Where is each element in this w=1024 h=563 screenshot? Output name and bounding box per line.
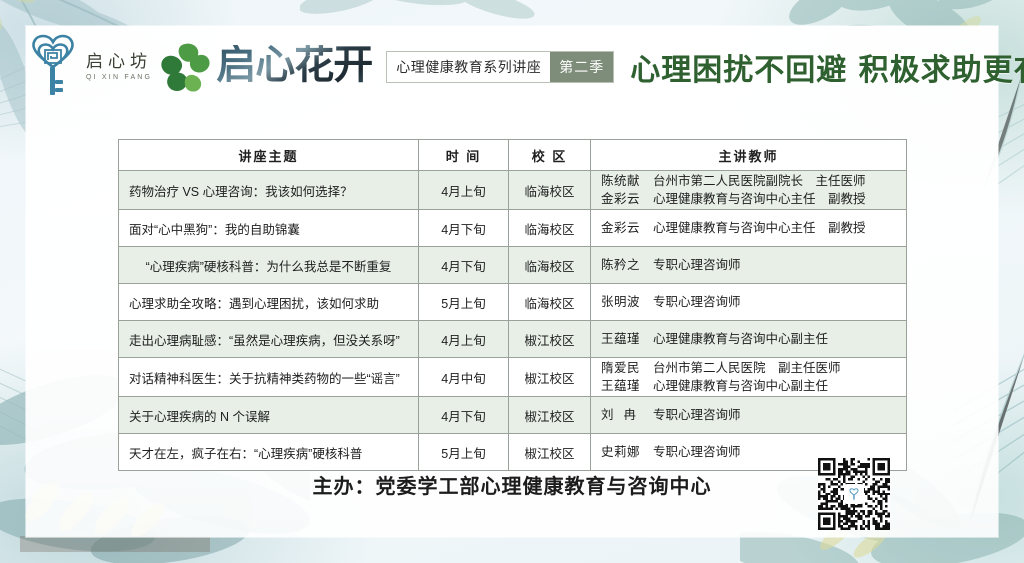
table-row: 关于心理疾病的 N 个误解4月下旬椒江校区刘冉专职心理咨询师 (119, 397, 907, 434)
teacher-title: 专职心理咨询师 (653, 256, 896, 274)
column-header-campus: 校 区 (509, 140, 591, 171)
cell-topic: 天才在左，疯子在右：“心理疾病”硬核科普 (119, 434, 419, 471)
green-leaf-flower-logo-icon (156, 41, 212, 93)
cell-time: 4月上旬 (419, 171, 509, 210)
teacher-name: 史莉娜 (601, 443, 653, 461)
teacher-name: 陈统献 (601, 172, 653, 190)
cell-topic: 心理求助全攻略：遇到心理困扰，该如何求助 (119, 284, 419, 321)
teacher-title: 心理健康教育与咨询中心主任 副教授 (653, 190, 896, 208)
poster-main-title: 心理困扰不回避 积极求助更有益 (630, 45, 1024, 89)
cell-topic: 走出心理病耻感：“虽然是心理疾病，但没关系呀” (119, 321, 419, 358)
teacher-entry: 王蕴瑾心理健康教育与咨询中心副主任 (601, 330, 896, 348)
series-label: 心理健康教育系列讲座 (387, 52, 550, 82)
cell-campus: 椒江校区 (509, 358, 591, 397)
teacher-name: 陈矜之 (601, 256, 653, 274)
schedule-table-body: 药物治疗 VS 心理咨询：我该如何选择？4月上旬临海校区陈统献台州市第二人民医院… (119, 171, 907, 471)
table-row: 药物治疗 VS 心理咨询：我该如何选择？4月上旬临海校区陈统献台州市第二人民医院… (119, 171, 907, 210)
cell-topic: “心理疾病”硬核科普：为什么我总是不断重复 (119, 247, 419, 284)
table-row: 走出心理病耻感：“虽然是心理疾病，但没关系呀”4月上旬椒江校区王蕴瑾心理健康教育… (119, 321, 907, 358)
cell-time: 4月下旬 (419, 210, 509, 247)
teacher-title: 台州市第二人民医院 副主任医师 (653, 359, 896, 377)
teacher-name: 金彩云 (601, 190, 653, 208)
column-header-topic: 讲座主题 (119, 140, 419, 171)
cell-campus: 椒江校区 (509, 434, 591, 471)
key-heart-logo-icon (26, 31, 80, 103)
table-row: 对话精神科医生：关于抗精神类药物的一些“谣言”4月中旬椒江校区隋爱民台州市第二人… (119, 358, 907, 397)
cell-campus: 椒江校区 (509, 321, 591, 358)
teacher-name: 王蕴瑾 (601, 330, 653, 348)
cell-time: 4月下旬 (419, 247, 509, 284)
cell-topic: 面对“心中黑狗”：我的自助锦囊 (119, 210, 419, 247)
cell-campus: 临海校区 (509, 284, 591, 321)
cell-teacher: 隋爱民台州市第二人民医院 副主任医师王蕴瑾心理健康教育与咨询中心副主任 (591, 358, 907, 397)
teacher-entry: 陈矜之专职心理咨询师 (601, 256, 896, 274)
teacher-entry: 王蕴瑾心理健康教育与咨询中心副主任 (601, 377, 896, 395)
poster-canvas: 启心坊 QI XIN FANG 启心花开 心理健康教育系列讲座 第二 (0, 0, 1024, 563)
cell-teacher: 陈矜之专职心理咨询师 (591, 247, 907, 284)
cell-teacher: 张明波专职心理咨询师 (591, 284, 907, 321)
cell-topic: 关于心理疾病的 N 个误解 (119, 397, 419, 434)
teacher-entry: 隋爱民台州市第二人民医院 副主任医师 (601, 359, 896, 377)
cell-time: 4月下旬 (419, 397, 509, 434)
teacher-entry: 金彩云心理健康教育与咨询中心主任 副教授 (601, 219, 896, 237)
brand-mark: 启心坊 QI XIN FANG (86, 41, 212, 93)
teacher-entry: 刘冉专职心理咨询师 (601, 406, 896, 424)
qr-center-logo (844, 484, 864, 504)
cell-time: 5月上旬 (419, 284, 509, 321)
column-header-time: 时 间 (419, 140, 509, 171)
teacher-title: 专职心理咨询师 (653, 293, 896, 311)
schedule-table-container: 讲座主题 时 间 校 区 主讲教师 药物治疗 VS 心理咨询：我该如何选择？4月… (118, 139, 906, 471)
teacher-title: 心理健康教育与咨询中心副主任 (653, 330, 896, 348)
table-row: 天才在左，疯子在右：“心理疾病”硬核科普5月上旬椒江校区史莉娜专职心理咨询师 (119, 434, 907, 471)
cell-time: 4月中旬 (419, 358, 509, 397)
cell-time: 5月上旬 (419, 434, 509, 471)
teacher-entry: 张明波专职心理咨询师 (601, 293, 896, 311)
cell-teacher: 陈统献台州市第二人民医院副院长 主任医师金彩云心理健康教育与咨询中心主任 副教授 (591, 171, 907, 210)
cell-topic: 药物治疗 VS 心理咨询：我该如何选择？ (119, 171, 419, 210)
cell-campus: 临海校区 (509, 247, 591, 284)
qr-code[interactable] (818, 458, 890, 530)
teacher-title: 心理健康教育与咨询中心副主任 (653, 377, 896, 395)
teacher-name: 刘冉 (601, 406, 653, 424)
table-row: 面对“心中黑狗”：我的自助锦囊4月下旬临海校区金彩云心理健康教育与咨询中心主任 … (119, 210, 907, 247)
cell-topic: 对话精神科医生：关于抗精神类药物的一些“谣言” (119, 358, 419, 397)
brand-logo-cn: 启心坊 (86, 54, 152, 71)
teacher-name: 王蕴瑾 (601, 377, 653, 395)
cell-teacher: 金彩云心理健康教育与咨询中心主任 副教授 (591, 210, 907, 247)
teacher-name: 隋爱民 (601, 359, 653, 377)
teacher-name: 金彩云 (601, 219, 653, 237)
qr-center-key-icon (847, 487, 861, 501)
teacher-title: 台州市第二人民医院副院长 主任医师 (653, 172, 896, 190)
cell-campus: 临海校区 (509, 171, 591, 210)
cell-campus: 临海校区 (509, 210, 591, 247)
lecture-schedule-table: 讲座主题 时 间 校 区 主讲教师 药物治疗 VS 心理咨询：我该如何选择？4月… (118, 139, 907, 471)
poster-header: 启心坊 QI XIN FANG 启心花开 心理健康教育系列讲座 第二 (0, 28, 1024, 106)
cell-campus: 椒江校区 (509, 397, 591, 434)
brand-logo-pinyin: QI XIN FANG (86, 74, 152, 81)
column-header-teacher: 主讲教师 (591, 140, 907, 171)
teacher-entry: 金彩云心理健康教育与咨询中心主任 副教授 (601, 190, 896, 208)
teacher-name: 张明波 (601, 293, 653, 311)
season-badge: 第二季 (550, 52, 613, 82)
program-wordmark: 启心花开 (216, 45, 372, 89)
table-row: 心理求助全攻略：遇到心理困扰，该如何求助5月上旬临海校区张明波专职心理咨询师 (119, 284, 907, 321)
teacher-title: 专职心理咨询师 (653, 406, 896, 424)
cell-teacher: 王蕴瑾心理健康教育与咨询中心副主任 (591, 321, 907, 358)
teacher-entry: 陈统献台州市第二人民医院副院长 主任医师 (601, 172, 896, 190)
series-badge-group: 心理健康教育系列讲座 第二季 (386, 51, 614, 83)
table-header-row: 讲座主题 时 间 校 区 主讲教师 (119, 140, 907, 171)
cell-teacher: 刘冉专职心理咨询师 (591, 397, 907, 434)
table-row: “心理疾病”硬核科普：为什么我总是不断重复4月下旬临海校区陈矜之专职心理咨询师 (119, 247, 907, 284)
teacher-title: 心理健康教育与咨询中心主任 副教授 (653, 219, 896, 237)
cell-time: 4月上旬 (419, 321, 509, 358)
